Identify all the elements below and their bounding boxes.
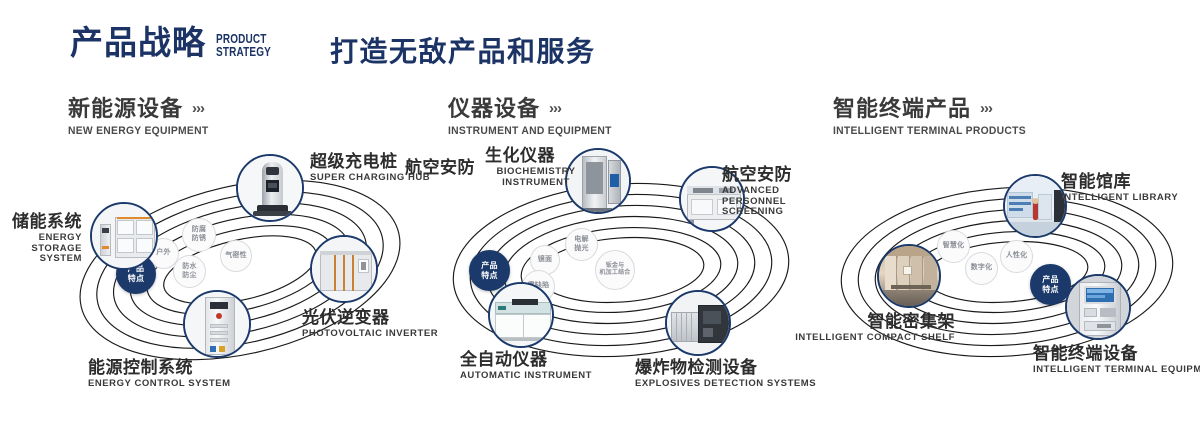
- feature-bubble-3: 气密性: [220, 240, 252, 272]
- cluster-intelligent-terminal: 智慧化 数字化 人性化 产品 特点: [815, 152, 1200, 397]
- page-title-en-line1: PRODUCT: [216, 33, 271, 46]
- feature-bubble-3: 钣金与 机加工结合: [595, 250, 635, 290]
- control-cabinet-icon: [185, 292, 249, 356]
- page-subtitle: 打造无敌产品和服务: [330, 30, 596, 70]
- section-header-intelligent-terminal: 智能终端产品 ››› INTELLIGENT TERMINAL PRODUCTS: [833, 96, 1038, 137]
- feature-bubble-1: 电解 抛光: [565, 228, 598, 261]
- node-label-automatic-instrument: 全自动仪器 AUTOMATIC INSTRUMENT: [460, 350, 610, 382]
- node-label-biochemistry-scanner: 生化仪器 BIOCHEMISTRY INSTRUMENT: [485, 146, 605, 188]
- terminal-kiosk-icon: [1067, 276, 1129, 338]
- feature-bubble-2: 人性化: [1000, 240, 1033, 273]
- section-title-cn-0: 新能源设备 ›››: [68, 96, 217, 121]
- node-compact-shelf[interactable]: [877, 244, 941, 308]
- section-title-cn-1: 仪器设备 ›››: [448, 96, 622, 121]
- node-terminal-kiosk[interactable]: [1065, 274, 1131, 340]
- section-header-instrument: 仪器设备 ››› INSTRUMENT AND EQUIPMENT: [448, 96, 622, 137]
- page-title-en-line2: STRATEGY: [216, 46, 271, 59]
- inverter-cabinet-icon: [312, 237, 376, 301]
- feature-bubble-0: 防腐 防锈: [182, 218, 216, 252]
- node-label-control-cabinet: 能源控制系统 ENERGY CONTROL SYSTEM: [88, 358, 258, 390]
- chevron-right-icon: ›››: [980, 100, 992, 117]
- chevron-right-icon: ›››: [549, 100, 561, 117]
- node-label-terminal-kiosk: 智能终端设备 INTELLIGENT TERMINAL EQUIPMENT: [1033, 344, 1200, 376]
- section-title-text-0: 新能源设备: [68, 96, 183, 121]
- node-charging-pile[interactable]: [236, 154, 304, 222]
- node-control-cabinet[interactable]: [183, 290, 251, 358]
- cluster-new-energy: 防腐 防锈 户外 防水 防尘 气密性 产品 特点: [50, 150, 430, 390]
- automatic-instrument-icon: [490, 284, 552, 346]
- node-explosives-detector[interactable]: [665, 290, 731, 356]
- page-title-cn: 产品战略: [70, 26, 206, 59]
- explosives-detector-icon: [667, 292, 729, 354]
- feature-bubble-1: 数字化: [965, 252, 998, 285]
- section-title-en-2: INTELLIGENT TERMINAL PRODUCTS: [833, 125, 1026, 137]
- feature-bubble-0: 智慧化: [937, 230, 970, 263]
- node-automatic-instrument[interactable]: [488, 282, 554, 348]
- compact-shelf-icon: [879, 246, 939, 306]
- chevron-right-icon: ›››: [192, 100, 204, 117]
- section-header-new-energy: 新能源设备 ››› NEW ENERGY EQUIPMENT: [68, 96, 217, 137]
- node-label-explosives-detector: 爆炸物检测设备 EXPLOSIVES DETECTION SYSTEMS: [635, 358, 825, 390]
- battery-cabinet-icon: [92, 204, 156, 268]
- section-title-cn-2: 智能终端产品 ›››: [833, 96, 1038, 121]
- library-room-icon: [1005, 176, 1065, 236]
- node-label-battery-cabinet: 储能系统 ENERGY STORAGE SYSTEM: [0, 212, 82, 265]
- section-title-text-1: 仪器设备: [448, 96, 540, 121]
- section-title-en-1: INSTRUMENT AND EQUIPMENT: [448, 125, 612, 137]
- section-title-en-0: NEW ENERGY EQUIPMENT: [68, 125, 208, 137]
- page-title: 产品战略 PRODUCT STRATEGY: [70, 26, 285, 59]
- section-title-text-2: 智能终端产品: [833, 96, 971, 121]
- node-battery-cabinet[interactable]: [90, 202, 158, 270]
- product-strategy-infographic: 产品战略 PRODUCT STRATEGY 打造无敌产品和服务 新能源设备 ››…: [0, 0, 1200, 422]
- charging-pile-icon: [238, 156, 302, 220]
- page-title-en: PRODUCT STRATEGY: [216, 33, 271, 58]
- feature-bubble-2: 防水 防尘: [173, 255, 206, 288]
- cluster-instrument: 镜面 电解 抛光 零缺陷 钣金与 机加工结合 产品 特点 航空安防: [425, 150, 815, 395]
- node-library-room[interactable]: [1003, 174, 1067, 238]
- node-inverter-cabinet[interactable]: [310, 235, 378, 303]
- node-label-library-room: 智能馆库 INTELLIGENT LIBRARY: [1061, 172, 1200, 204]
- node-label-inverter-cabinet: 光伏逆变器 PHOTOVOLTAIC INVERTER: [302, 308, 442, 340]
- node-label-compact-shelf: 智能密集架 INTELLIGENT COMPACT SHELF: [785, 312, 955, 344]
